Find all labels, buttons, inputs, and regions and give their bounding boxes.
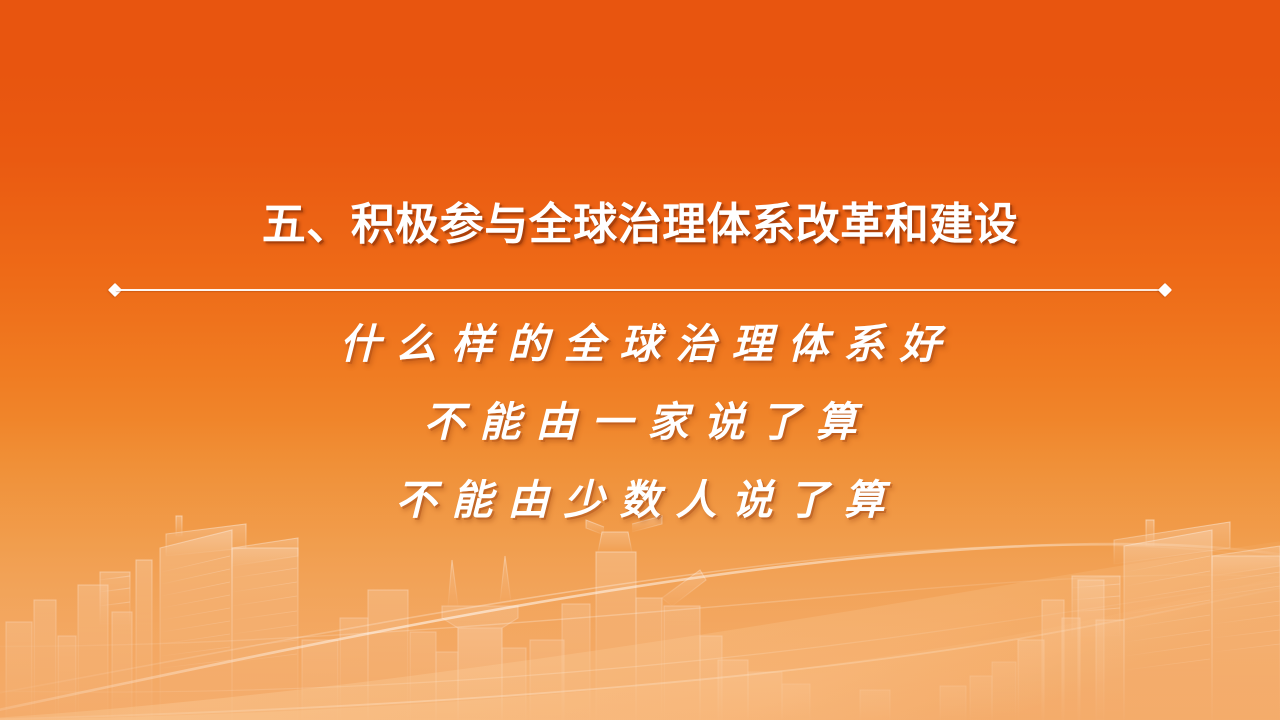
title-divider — [110, 284, 1170, 296]
title-container: 五、积极参与全球治理体系改革和建设 — [0, 200, 1280, 251]
divider-right-diamond-icon — [1158, 283, 1172, 297]
body-text-container: 什么样的全球治理体系好 不能由一家说了算 不能由少数人说了算 — [0, 312, 1280, 532]
divider-rule — [116, 289, 1164, 291]
body-line-3: 不能由少数人说了算 — [0, 468, 1280, 532]
body-line-1: 什么样的全球治理体系好 — [0, 312, 1280, 376]
page-title: 五、积极参与全球治理体系改革和建设 — [262, 200, 1019, 251]
body-line-2: 不能由一家说了算 — [0, 390, 1280, 454]
presentation-slide: 五、积极参与全球治理体系改革和建设 什么样的全球治理体系好 不能由一家说了算 不… — [0, 0, 1280, 720]
